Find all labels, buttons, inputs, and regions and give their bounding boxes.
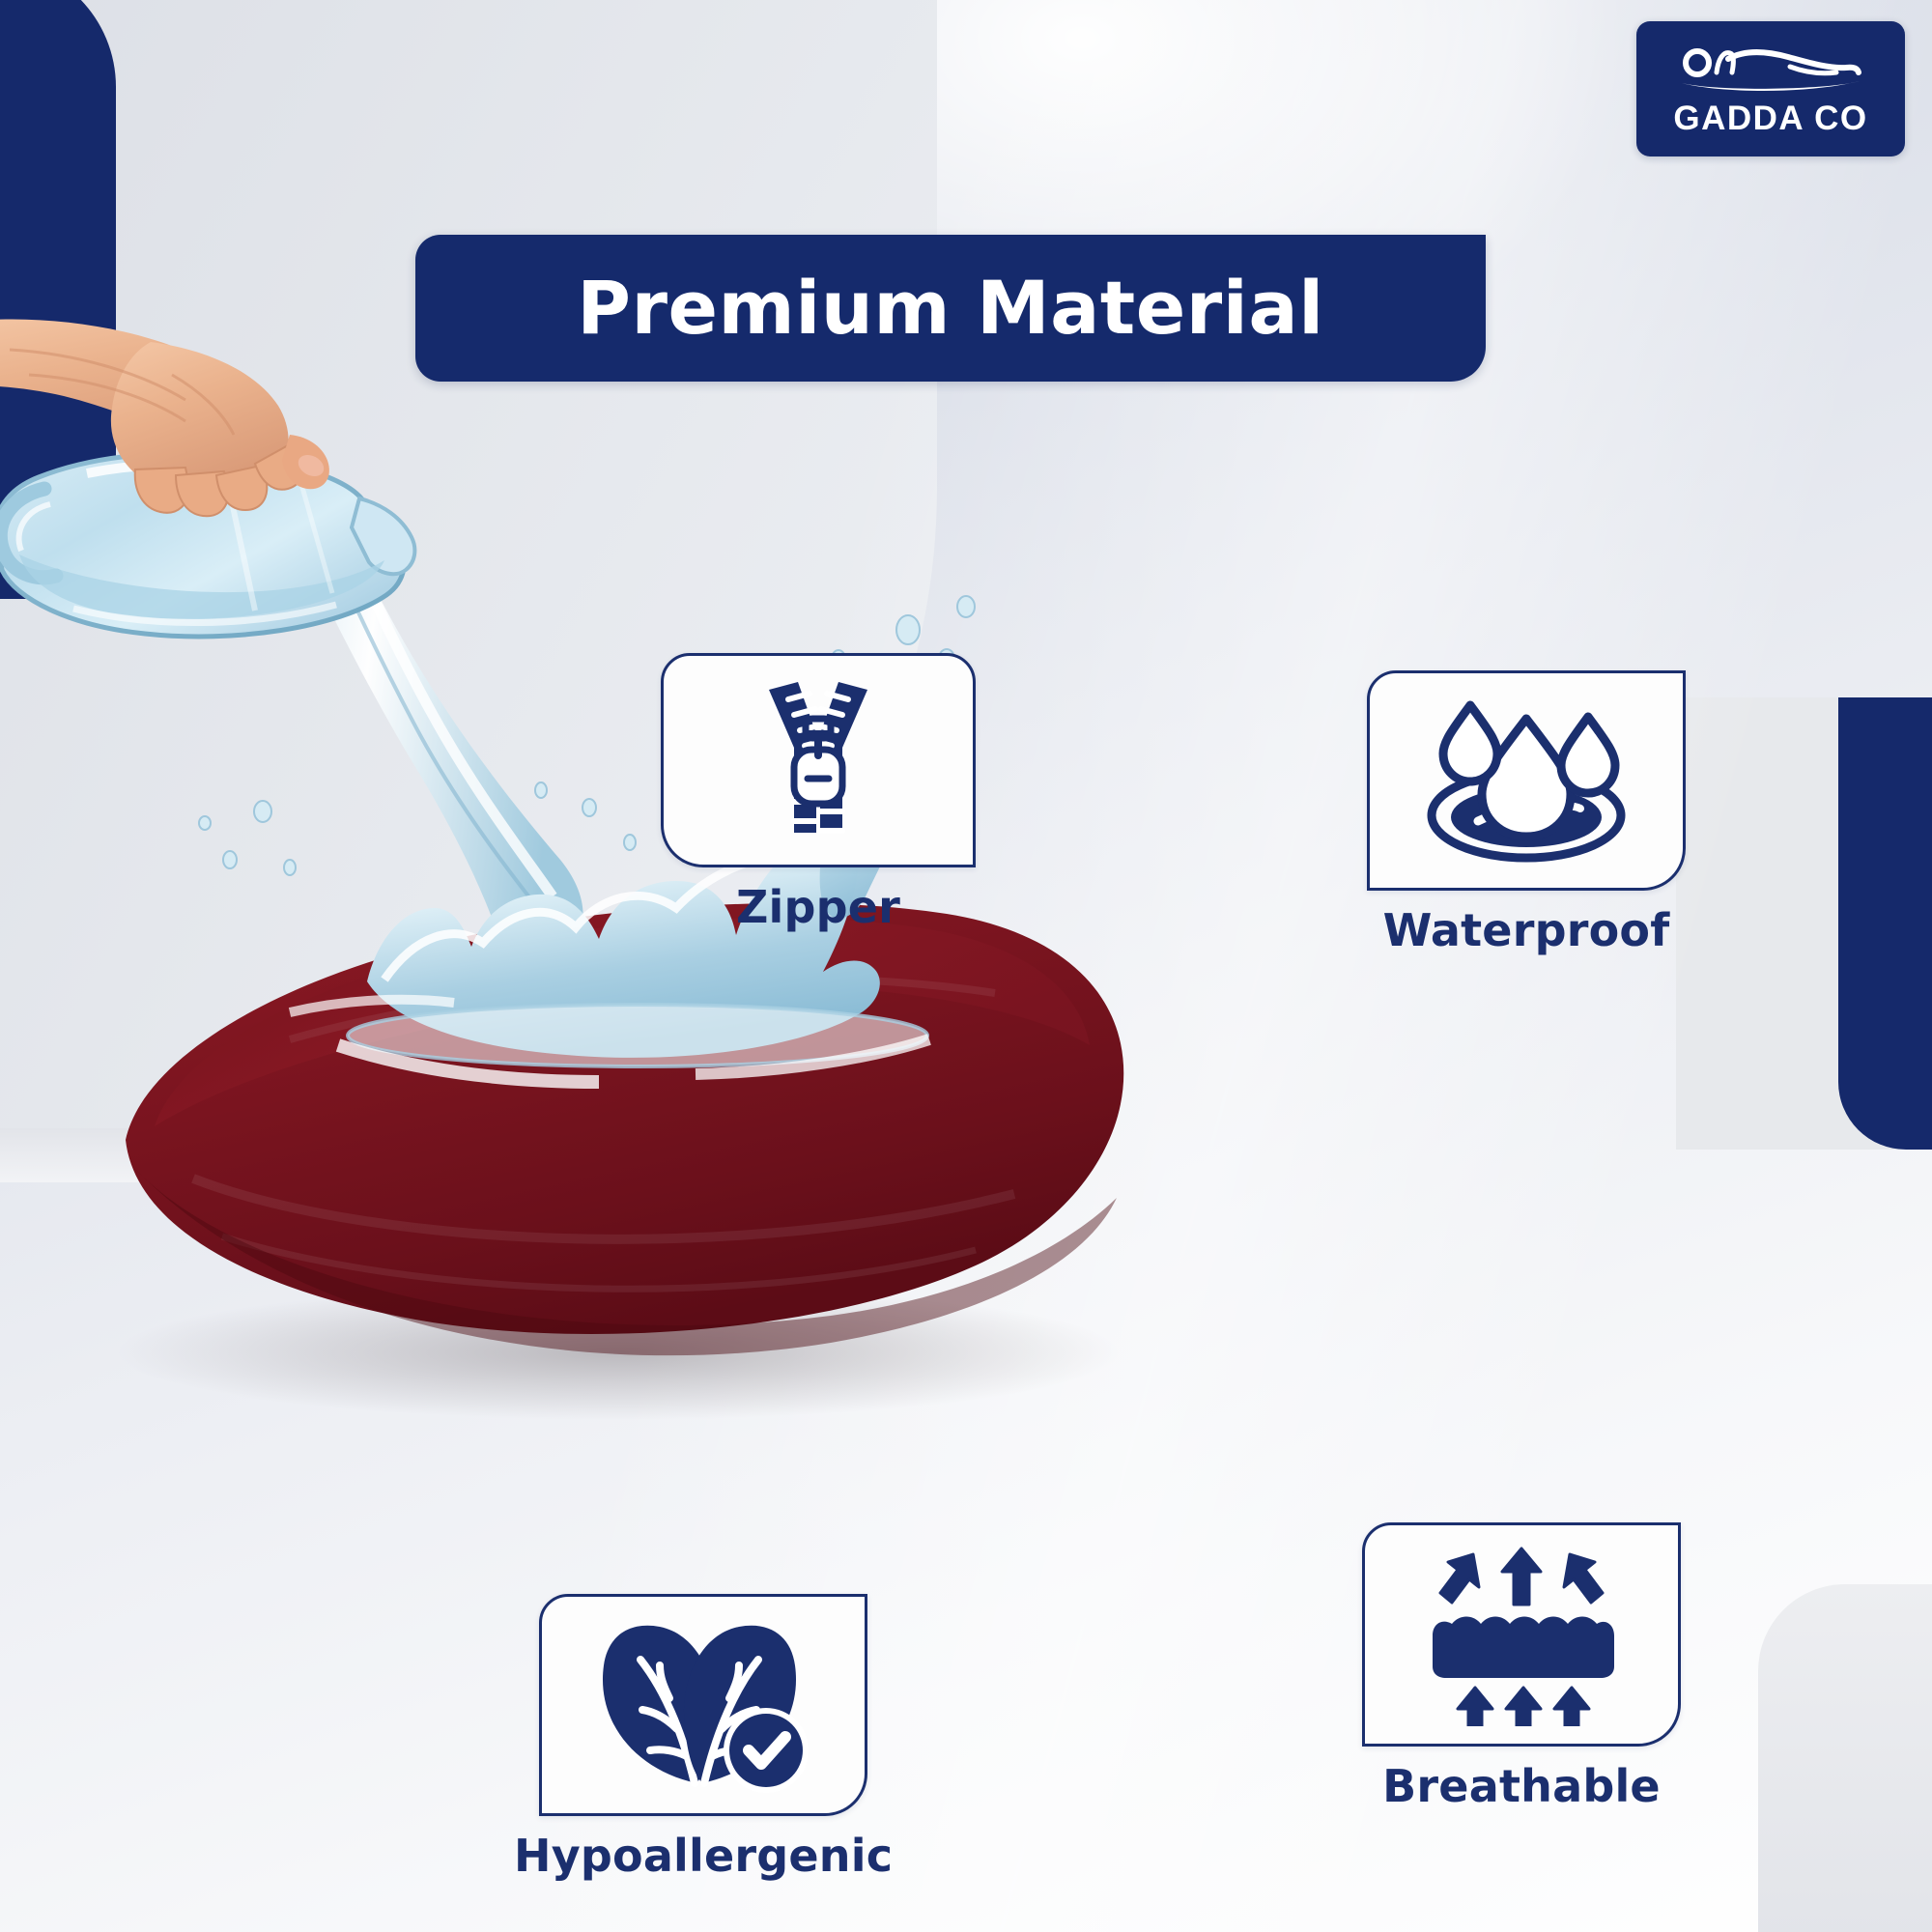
decor-shape-navy-right xyxy=(1838,697,1932,1150)
feature-hypoallergenic-card[interactable] xyxy=(539,1594,867,1816)
hand-pouring xyxy=(0,290,377,560)
feature-zipper-label: Zipper xyxy=(736,881,900,933)
brand-logo: GADDA CO xyxy=(1636,21,1905,156)
person-sleeping-on-mattress-icon xyxy=(1674,43,1867,99)
water-droplets-puddle-icon xyxy=(1410,694,1642,867)
feature-zipper[interactable]: Zipper xyxy=(661,653,976,933)
decor-block-gray-bottom-right xyxy=(1758,1584,1932,1932)
feature-waterproof[interactable]: Waterproof xyxy=(1367,670,1686,956)
feature-hypoallergenic[interactable]: Hypoallergenic xyxy=(514,1594,893,1882)
airflow-arrows-foam-icon xyxy=(1406,1543,1637,1726)
zipper-icon xyxy=(726,678,910,842)
feature-waterproof-card[interactable] xyxy=(1367,670,1686,891)
page-title: Premium Material xyxy=(577,271,1323,345)
feature-zipper-card[interactable] xyxy=(661,653,976,867)
hand-shape xyxy=(0,290,377,560)
feature-breathable-card[interactable] xyxy=(1362,1522,1681,1747)
brand-logo-text: GADDA CO xyxy=(1673,101,1867,135)
feature-breathable[interactable]: Breathable xyxy=(1362,1522,1681,1812)
feature-waterproof-label: Waterproof xyxy=(1383,904,1670,956)
feature-hypoallergenic-label: Hypoallergenic xyxy=(514,1830,893,1882)
leaves-check-icon xyxy=(582,1613,824,1797)
feature-breathable-label: Breathable xyxy=(1382,1760,1661,1812)
